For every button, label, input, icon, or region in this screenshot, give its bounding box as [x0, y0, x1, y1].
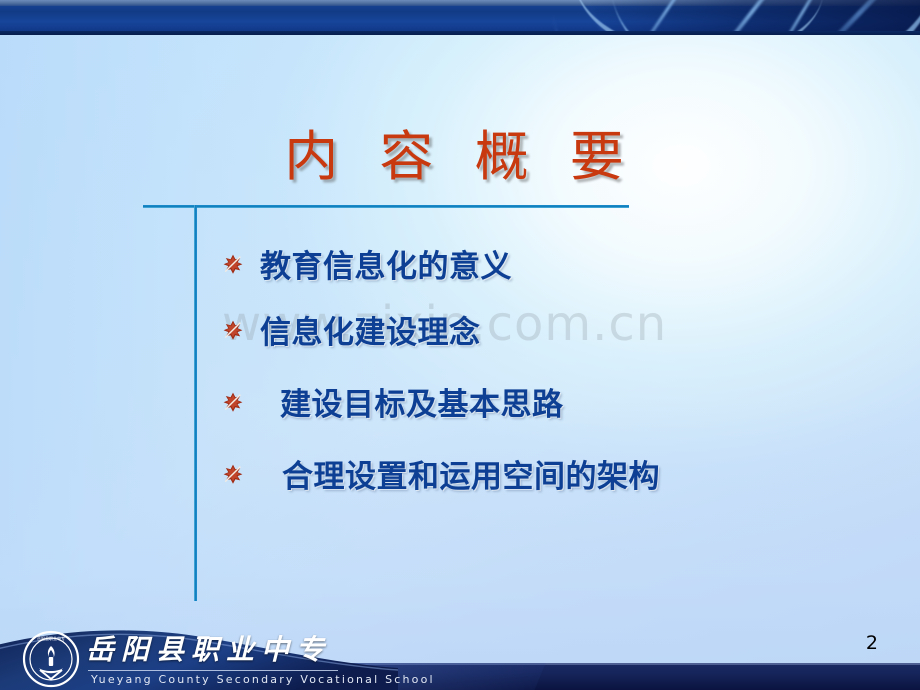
list-item-label: 建设目标及基本思路 — [280, 379, 564, 424]
maple-leaf-bullet-icon — [222, 319, 244, 341]
content-divider-vertical — [194, 205, 197, 601]
list-item-label: 合理设置和运用空间的架构 — [282, 451, 660, 496]
outline-list: 教育信息化的意义 信息化建设理念 — [222, 240, 882, 516]
list-item-label: 教育信息化的意义 — [260, 241, 512, 286]
page-title: 内 容 概 要 — [0, 112, 920, 191]
list-item-label: 信息化建设理念 — [260, 307, 481, 352]
page-number: 2 — [866, 632, 878, 654]
svg-text:岳阳县职业中专: 岳阳县职业中专 — [37, 635, 65, 641]
list-item[interactable]: 信息化建设理念 — [222, 306, 882, 352]
school-torch-emblem-icon: 岳阳县职业中专 — [22, 630, 80, 688]
maple-leaf-bullet-icon — [222, 463, 244, 485]
maple-leaf-bullet-icon — [222, 391, 244, 413]
presentation-slide: www.zixin.com.cn 内 容 概 要 教育信息化的意义 — [0, 0, 920, 690]
school-logo: 岳阳县职业中专 岳阳县职业中专 Yueyang County Secondary… — [8, 604, 358, 690]
top-banner — [0, 0, 920, 35]
school-name-cn: 岳阳县职业中专 — [86, 628, 331, 668]
maple-leaf-bullet-icon — [222, 253, 244, 275]
logo-underline — [88, 670, 338, 671]
list-item[interactable]: 教育信息化的意义 — [222, 240, 882, 286]
school-name-en: Yueyang County Secondary Vocational Scho… — [91, 673, 435, 686]
list-item[interactable]: 建设目标及基本思路 — [222, 378, 882, 424]
list-item[interactable]: 合理设置和运用空间的架构 — [222, 450, 882, 496]
title-divider-horizontal — [143, 205, 629, 208]
top-banner-lower-strip — [0, 31, 920, 35]
